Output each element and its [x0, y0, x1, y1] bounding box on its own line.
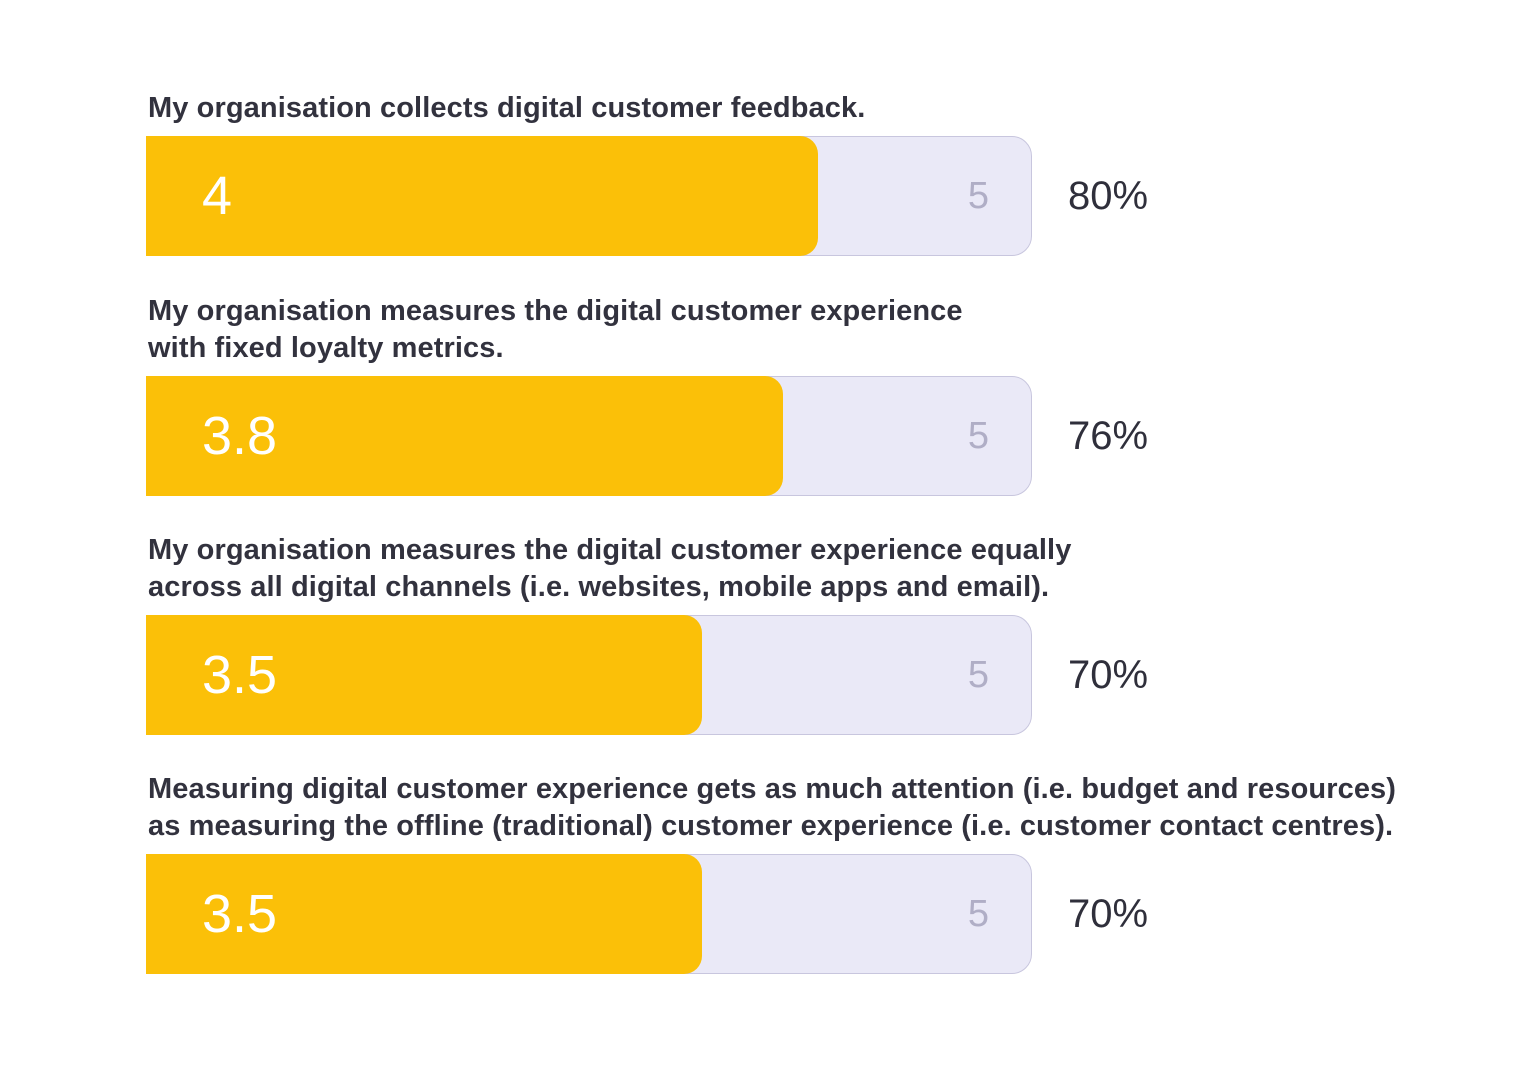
bar-percent-label-4: 70%: [1068, 894, 1148, 934]
bar-row-1: 4 5 80%: [146, 136, 1486, 256]
question-label-1: My organisation collects digital custome…: [148, 90, 1486, 127]
bar-group-1: My organisation collects digital custome…: [146, 90, 1486, 256]
bar-max-label-3: 5: [968, 656, 989, 694]
bar-fill-1: 4: [146, 136, 818, 256]
bar-row-4: 3.5 5 70%: [146, 854, 1486, 974]
bar-fill-4: 3.5: [146, 854, 702, 974]
bar-fill-2: 3.8: [146, 376, 783, 496]
bar-row-2: 3.8 5 76%: [146, 376, 1486, 496]
bar-value-label-3: 3.5: [202, 648, 277, 702]
question-label-3: My organisation measures the digital cus…: [148, 532, 1486, 606]
bar-max-label-2: 5: [968, 417, 989, 455]
bar-track-4: 3.5 5: [146, 854, 1032, 974]
question-label-2: My organisation measures the digital cus…: [148, 293, 1486, 367]
bar-percent-label-2: 76%: [1068, 416, 1148, 456]
bar-percent-label-3: 70%: [1068, 655, 1148, 695]
bar-track-3: 3.5 5: [146, 615, 1032, 735]
question-label-4: Measuring digital customer experience ge…: [148, 771, 1486, 845]
bar-value-label-2: 3.8: [202, 409, 277, 463]
bar-value-label-4: 3.5: [202, 887, 277, 941]
bar-track-1: 4 5: [146, 136, 1032, 256]
bar-group-4: Measuring digital customer experience ge…: [146, 771, 1486, 974]
bar-max-label-4: 5: [968, 895, 989, 933]
bar-max-label-1: 5: [968, 177, 989, 215]
bar-track-2: 3.8 5: [146, 376, 1032, 496]
bar-row-3: 3.5 5 70%: [146, 615, 1486, 735]
bar-group-3: My organisation measures the digital cus…: [146, 532, 1486, 735]
bar-group-2: My organisation measures the digital cus…: [146, 293, 1486, 496]
bar-percent-label-1: 80%: [1068, 176, 1148, 216]
bar-fill-3: 3.5: [146, 615, 702, 735]
bar-value-label-1: 4: [202, 169, 232, 223]
